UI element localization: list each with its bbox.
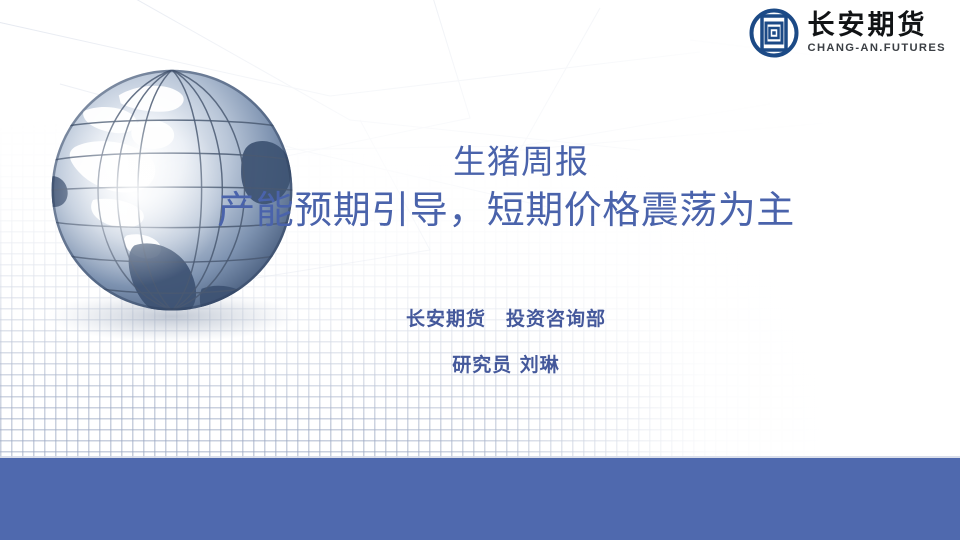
subtitle-author: 研究员 刘琳: [52, 356, 960, 375]
globe-graphic: [24, 52, 320, 348]
cover-slide: 长安期货 CHANG-AN.FUTURES 生猪周报 产能预期引导，短期价格震荡…: [0, 0, 960, 540]
company-logo: 长安期货 CHANG-AN.FUTURES: [749, 8, 946, 58]
bottom-color-band: [0, 458, 960, 540]
company-name-en: CHANG-AN.FUTURES: [808, 42, 946, 54]
globe-icon: [24, 52, 320, 348]
chang-an-futures-emblem-icon: [749, 8, 799, 58]
logo-text-block: 长安期货 CHANG-AN.FUTURES: [808, 12, 946, 55]
company-name-cn: 长安期货: [808, 12, 928, 40]
